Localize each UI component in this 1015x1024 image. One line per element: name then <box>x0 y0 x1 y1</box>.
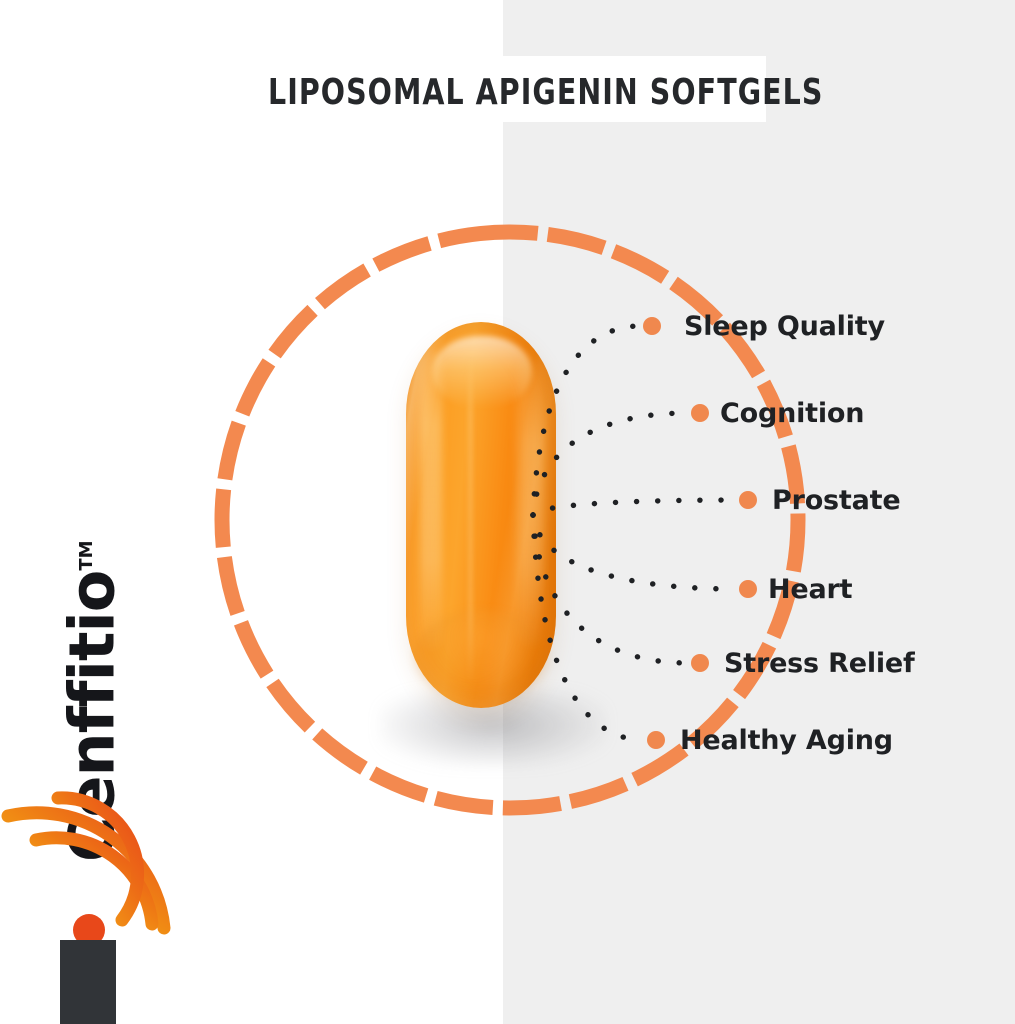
trademark-symbol: TM <box>76 540 97 570</box>
capsule-top-highlight <box>432 336 532 408</box>
capsule-left-highlight <box>420 350 442 650</box>
benefit-label: Sleep Quality <box>684 313 885 340</box>
benefit-label: Healthy Aging <box>680 727 893 754</box>
page-title: LIPOSOMAL APIGENIN SOFTGELS <box>268 70 796 116</box>
brand-logo: CenffitioTM <box>0 520 190 940</box>
bottom-color-bar <box>60 940 116 1024</box>
benefit-label: Cognition <box>720 400 864 427</box>
signal-waves-icon <box>0 782 184 952</box>
background-right-panel <box>503 0 1015 1024</box>
benefit-label: Prostate <box>772 487 900 514</box>
capsule-seam <box>468 355 473 685</box>
infographic-canvas: LIPOSOMAL APIGENIN SOFTGELS Sleep Qualit… <box>0 0 1015 1024</box>
benefit-label: Stress Relief <box>724 650 915 677</box>
capsule-right-highlight <box>518 356 544 646</box>
benefit-label: Heart <box>768 576 852 603</box>
